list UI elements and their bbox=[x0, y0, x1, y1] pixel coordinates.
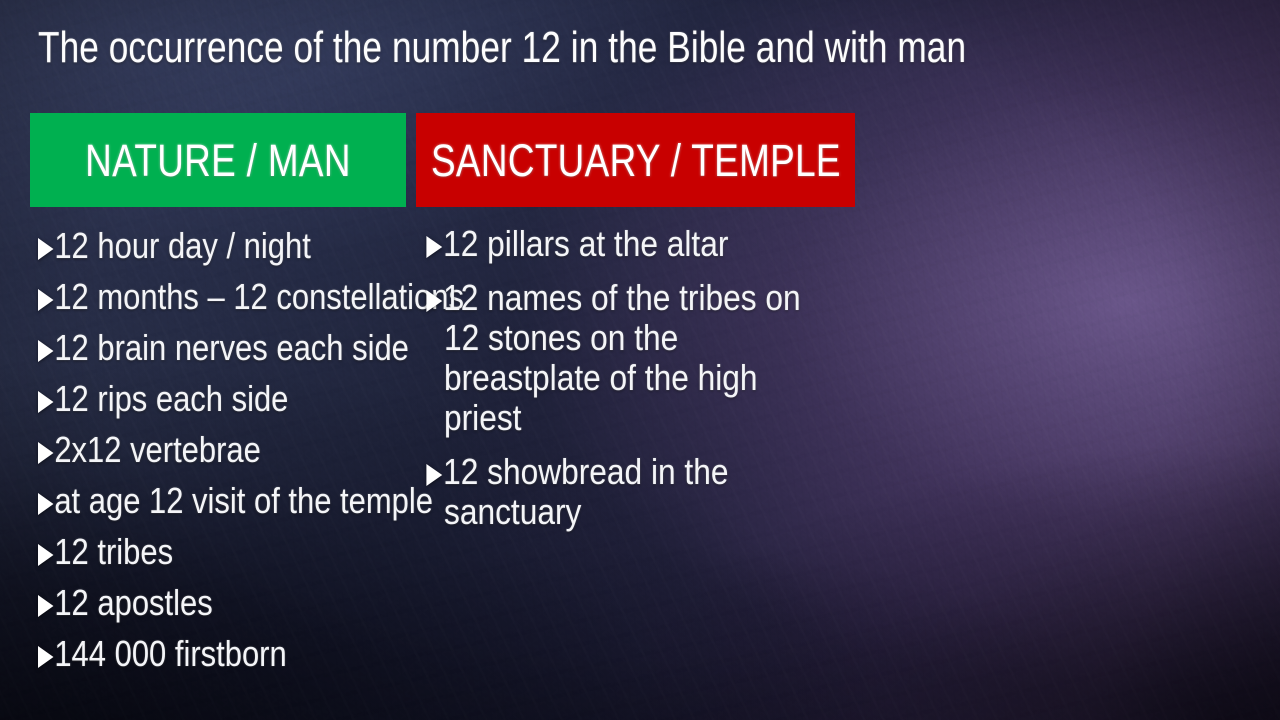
list-item-label: 12 rips each side bbox=[54, 378, 288, 419]
list-sanctuary-temple: 12 pillars at the altar12 names of the t… bbox=[424, 224, 854, 546]
list-item-label: 12 months – 12 constellations bbox=[54, 276, 464, 317]
header-bar-nature-man: NATURE / MAN bbox=[30, 113, 406, 207]
list-item: 12 hour day / night bbox=[38, 224, 428, 275]
triangle-right-icon bbox=[38, 442, 53, 464]
triangle-right-icon bbox=[38, 238, 53, 260]
list-item: at age 12 visit of the temple bbox=[38, 479, 428, 530]
list-item-label: 12 tribes bbox=[54, 531, 173, 572]
list-item-label: 12 apostles bbox=[54, 582, 212, 623]
triangle-right-icon bbox=[426, 464, 442, 486]
list-item-label: 12 showbread in the sanctuary bbox=[443, 451, 728, 532]
list-item: 12 apostles bbox=[38, 581, 428, 632]
list-item-label: 12 brain nerves each side bbox=[54, 327, 409, 368]
list-item: 12 names of the tribes on 12 stones on t… bbox=[424, 278, 854, 438]
presentation-slide: The occurrence of the number 12 in the B… bbox=[0, 0, 1280, 720]
triangle-right-icon bbox=[426, 236, 442, 258]
header-label-nature-man: NATURE / MAN bbox=[85, 138, 351, 183]
list-item-label: at age 12 visit of the temple bbox=[54, 480, 433, 521]
list-item: 12 brain nerves each side bbox=[38, 326, 428, 377]
list-item: 12 showbread in the sanctuary bbox=[424, 452, 854, 532]
triangle-right-icon bbox=[38, 340, 53, 362]
list-item: 12 rips each side bbox=[38, 377, 428, 428]
triangle-right-icon bbox=[426, 290, 442, 312]
triangle-right-icon bbox=[38, 544, 53, 566]
list-item-label: 144 000 firstborn bbox=[54, 633, 286, 674]
list-item: 12 months – 12 constellations bbox=[38, 275, 428, 326]
list-item-label: 12 pillars at the altar bbox=[443, 223, 728, 264]
header-label-sanctuary-temple: SANCTUARY / TEMPLE bbox=[431, 138, 841, 183]
slide-content: The occurrence of the number 12 in the B… bbox=[0, 0, 1280, 720]
triangle-right-icon bbox=[38, 646, 53, 668]
list-item: 12 tribes bbox=[38, 530, 428, 581]
list-item: 144 000 firstborn bbox=[38, 632, 428, 683]
header-bar-sanctuary-temple: SANCTUARY / TEMPLE bbox=[416, 113, 855, 207]
triangle-right-icon bbox=[38, 391, 53, 413]
slide-title: The occurrence of the number 12 in the B… bbox=[38, 18, 998, 78]
triangle-right-icon bbox=[38, 289, 53, 311]
list-item: 12 pillars at the altar bbox=[424, 224, 854, 264]
triangle-right-icon bbox=[38, 595, 53, 617]
list-item-label: 2x12 vertebrae bbox=[54, 429, 261, 470]
triangle-right-icon bbox=[38, 493, 53, 515]
list-item: 2x12 vertebrae bbox=[38, 428, 428, 479]
list-nature-man: 12 hour day / night12 months – 12 conste… bbox=[38, 224, 428, 683]
list-item-label: 12 hour day / night bbox=[54, 225, 310, 266]
list-item-label: 12 names of the tribes on 12 stones on t… bbox=[443, 277, 801, 438]
